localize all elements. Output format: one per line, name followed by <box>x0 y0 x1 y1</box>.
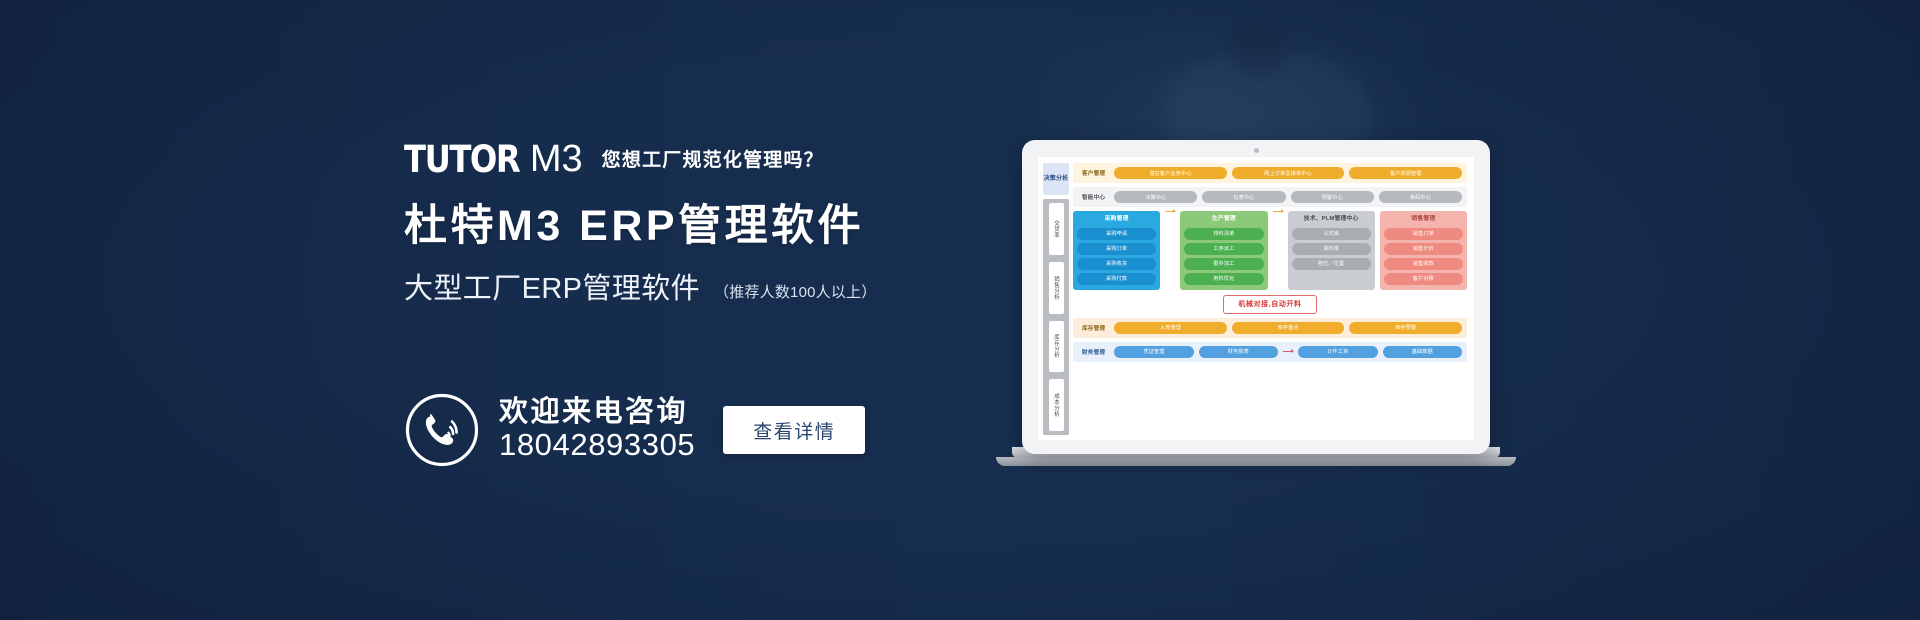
contact-invite-label: 欢迎来电咨询 <box>499 397 695 428</box>
erp-main-area: 客户管理 潜在客户业务中心 网上订单及接单中心 客户资源管理 智能中心 决策中心… <box>1073 163 1467 435</box>
page-title: 杜特M3 ERP管理软件 <box>404 202 1024 250</box>
erp-column-item: 排料清单 <box>1184 228 1263 240</box>
erp-sidebar-item: 交货率 <box>1049 203 1064 255</box>
erp-sidebar-rail: 交货率 销售分析 库存分析 成本分析 <box>1043 199 1069 435</box>
erp-column-item: 销售订单 <box>1384 228 1463 240</box>
erp-chip: 基础数据 <box>1383 346 1462 358</box>
erp-chip: 计件工资 <box>1298 346 1377 358</box>
erp-column-item: 公式库 <box>1292 228 1371 240</box>
erp-arrow-icon <box>1273 211 1283 212</box>
erp-arrow-icon <box>1283 351 1293 352</box>
hero-content: TUTOR M3 您想工厂规范化管理吗？ 杜特M3 ERP管理软件 大型工厂ER… <box>0 0 1920 620</box>
logo-secondary-text: M3 <box>530 140 583 178</box>
erp-column-item: 采购订单 <box>1077 243 1156 255</box>
erp-column-row: 采购管理 采购申请 采购订单 采购收货 采购付款 生产管理 排料清单 <box>1073 211 1467 290</box>
laptop-foot <box>996 457 1516 466</box>
erp-column-item: 采购付款 <box>1077 273 1156 285</box>
erp-chip: 客户资源管理 <box>1349 167 1462 179</box>
erp-band-title: 客户管理 <box>1078 167 1109 179</box>
hero-text-column: TUTOR M3 您想工厂规范化管理吗？ 杜特M3 ERP管理软件 大型工厂ER… <box>404 138 1024 306</box>
erp-chip: 库存预警 <box>1349 322 1462 334</box>
erp-column-item: 采购申请 <box>1077 228 1156 240</box>
erp-chip: 网上订单及接单中心 <box>1232 167 1345 179</box>
erp-band-title: 财务管理 <box>1078 346 1109 358</box>
erp-column-item: 客户对账 <box>1384 273 1463 285</box>
erp-band-title: 库存管理 <box>1078 322 1109 334</box>
erp-column-sales: 销售管理 销售订单 销售计价 销售收款 客户对账 <box>1380 211 1467 290</box>
erp-band-title: 智能中心 <box>1078 191 1109 203</box>
erp-column-item: 采购收货 <box>1077 258 1156 270</box>
view-details-button[interactable]: 查看详情 <box>723 406 865 454</box>
contact-cta-row: 欢迎来电咨询 18042893305 查看详情 <box>404 392 865 468</box>
erp-chip: 条码中心 <box>1379 191 1462 203</box>
phone-ring-icon <box>404 392 480 468</box>
erp-column-item: 资料库 <box>1292 243 1371 255</box>
erp-column-purchase: 采购管理 采购申请 采购订单 采购收货 采购付款 <box>1073 211 1160 290</box>
erp-column-production: 生产管理 排料清单 工序派工 委外加工 用料优化 <box>1180 211 1267 290</box>
laptop-lid: 决策分析 交货率 销售分析 库存分析 成本分析 客户管理 <box>1022 140 1490 454</box>
erp-column-item: 用料优化 <box>1184 273 1263 285</box>
erp-band-smart: 智能中心 决策中心 仪表中心 预警中心 条码中心 <box>1073 187 1467 207</box>
erp-chip: 决策中心 <box>1114 191 1197 203</box>
erp-column-item: 委外加工 <box>1184 258 1263 270</box>
erp-chip: 预警中心 <box>1291 191 1374 203</box>
erp-column-item: 销售收款 <box>1384 258 1463 270</box>
hero-subtitle-row: 大型工厂ERP管理软件 （推荐人数100人以上） <box>404 274 1024 306</box>
erp-column-plm: 技术、PLM管理中心 公式库 资料库 物位／位置 <box>1288 211 1375 290</box>
erp-callout: 机械对接,自动开料 <box>1223 295 1316 314</box>
erp-band-stock: 库存管理 入库管理 库存盘点 库存预警 <box>1073 318 1467 338</box>
erp-band-customer: 客户管理 潜在客户业务中心 网上订单及接单中心 客户资源管理 <box>1073 163 1467 183</box>
erp-chip: 潜在客户业务中心 <box>1114 167 1227 179</box>
erp-arrow-icon <box>1165 211 1175 212</box>
erp-diagram: 决策分析 交货率 销售分析 库存分析 成本分析 客户管理 <box>1038 157 1474 440</box>
erp-sidebar-item: 成本分析 <box>1049 379 1064 431</box>
erp-band-finance: 财务管理 凭证管理 财务报表 计件工资 基础数据 <box>1073 342 1467 362</box>
contact-text-block: 欢迎来电咨询 18042893305 <box>499 397 695 462</box>
erp-column-title: 销售管理 <box>1384 215 1463 225</box>
hero-subtitle: 大型工厂ERP管理软件 <box>404 274 700 306</box>
erp-sidebar-header: 决策分析 <box>1043 163 1069 195</box>
laptop-screen: 决策分析 交货率 销售分析 库存分析 成本分析 客户管理 <box>1038 157 1474 440</box>
erp-sidebar-item: 销售分析 <box>1049 262 1064 314</box>
erp-column-item: 工序派工 <box>1184 243 1263 255</box>
brand-logo: TUTOR M3 您想工厂规范化管理吗？ <box>404 138 1024 180</box>
erp-column-title: 采购管理 <box>1077 215 1156 225</box>
logo-primary-text: TUTOR <box>404 141 519 178</box>
erp-sidebar-item: 库存分析 <box>1049 321 1064 373</box>
erp-chip: 仪表中心 <box>1202 191 1285 203</box>
erp-chip: 凭证管理 <box>1114 346 1193 358</box>
laptop-camera-icon <box>1254 148 1259 153</box>
brand-tagline: 您想工厂规范化管理吗？ <box>602 145 824 174</box>
erp-column-title: 生产管理 <box>1184 215 1263 225</box>
hero-subtitle-note: （推荐人数100人以上） <box>714 281 876 306</box>
contact-phone-number: 18042893305 <box>499 428 695 463</box>
erp-chip: 库存盘点 <box>1232 322 1345 334</box>
erp-column-item: 销售计价 <box>1384 243 1463 255</box>
erp-column-title: 技术、PLM管理中心 <box>1292 215 1371 225</box>
erp-column-item: 物位／位置 <box>1292 258 1371 270</box>
laptop-mockup: 决策分析 交货率 销售分析 库存分析 成本分析 客户管理 <box>1012 140 1500 480</box>
erp-chip: 财务报表 <box>1199 346 1278 358</box>
hero-banner: TUTOR M3 您想工厂规范化管理吗？ 杜特M3 ERP管理软件 大型工厂ER… <box>0 0 1920 620</box>
erp-chip: 入库管理 <box>1114 322 1227 334</box>
erp-sidebar: 决策分析 交货率 销售分析 库存分析 成本分析 <box>1043 163 1069 435</box>
